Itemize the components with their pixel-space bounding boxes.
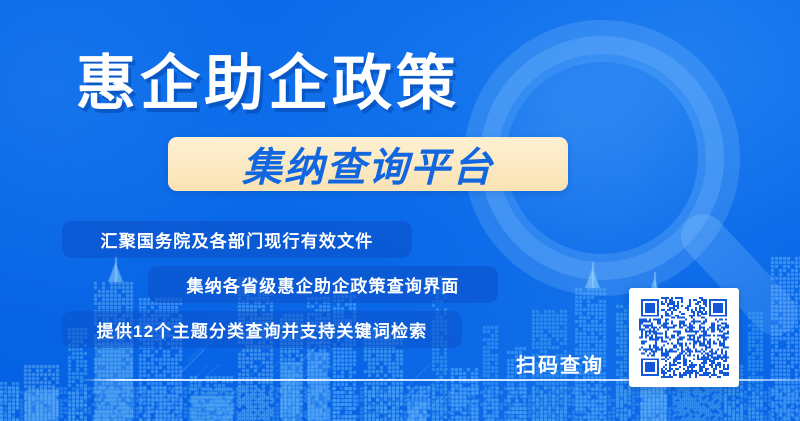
- scan-label: 扫码查询: [516, 349, 604, 378]
- subtitle-plate: 集纳查询平台: [168, 137, 568, 191]
- page-title: 惠企助企政策: [76, 52, 460, 115]
- feature-pill-1: 汇聚国务院及各部门现行有效文件: [62, 221, 412, 258]
- feature-label-1: 汇聚国务院及各部门现行有效文件: [62, 227, 412, 252]
- feature-label-2: 集纳各省级惠企助企政策查询界面: [148, 272, 498, 297]
- feature-pill-3: 提供12个主题分类查询并支持关键词检索: [62, 311, 462, 348]
- feature-pill-2: 集纳各省级惠企助企政策查询界面: [148, 266, 498, 303]
- feature-label-3: 提供12个主题分类查询并支持关键词检索: [62, 317, 462, 342]
- subtitle-text: 集纳查询平台: [168, 137, 568, 191]
- policy-platform-banner: 惠企助企政策 集纳查询平台 汇聚国务院及各部门现行有效文件 集纳各省级惠企助企政…: [0, 0, 800, 421]
- qr-code-image: [637, 295, 731, 380]
- qr-code[interactable]: [629, 288, 739, 387]
